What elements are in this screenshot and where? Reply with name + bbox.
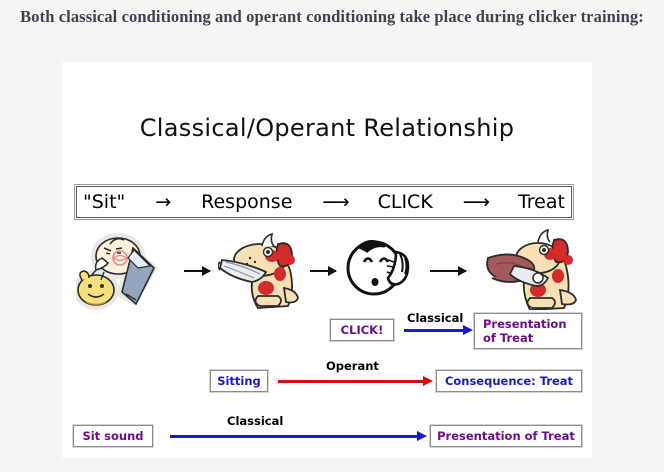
arrow-operant-sitting — [278, 380, 424, 383]
term-box-presentation-of-treat-1[interactable]: Presentation of Treat — [474, 313, 582, 349]
presentation-of-treat-line1: Presentation — [483, 317, 575, 331]
page-caption: Both classical conditioning and operant … — [8, 4, 656, 29]
relationship-label-classical-2: Classical — [227, 414, 283, 428]
slide-title: Classical/Operant Relationship — [62, 114, 592, 142]
diagram-panel: Classical/Operant Relationship "Sit" → R… — [62, 62, 592, 458]
presentation-of-treat-line2: of Treat — [483, 331, 575, 345]
relationship-label-operant: Operant — [326, 359, 379, 373]
illustration-arrow-2 — [310, 270, 336, 272]
sequence-item-cue: "Sit" — [83, 191, 125, 213]
illustration-row — [70, 226, 584, 312]
sequence-item-click: CLICK — [378, 191, 433, 213]
illustration-arrow-3 — [430, 270, 466, 272]
arrow-classical-sit-sound — [170, 435, 418, 438]
term-box-sit-sound[interactable]: Sit sound — [73, 425, 153, 447]
term-box-presentation-of-treat-2[interactable]: Presentation of Treat — [430, 425, 582, 447]
sequence-item-treat: Treat — [518, 191, 565, 213]
sequence-arrow-1: → — [155, 193, 171, 212]
face-listening-hand-to-ear-icon — [342, 232, 416, 309]
sequence-arrow-3: ⟶ — [463, 193, 488, 212]
dog-sitting-with-newspaper-icon — [218, 226, 304, 315]
term-box-consequence-treat[interactable]: Consequence: Treat — [436, 370, 582, 392]
term-box-sitting[interactable]: Sitting — [210, 370, 268, 392]
dog-receiving-bone-treat-icon — [474, 226, 584, 315]
term-box-click[interactable]: CLICK! — [330, 319, 394, 341]
sequence-strip: "Sit" → Response ⟶ CLICK ⟶ Treat — [74, 184, 574, 220]
sequence-arrow-2: ⟶ — [322, 193, 347, 212]
person-shouting-with-clicker-icon — [76, 228, 176, 317]
illustration-arrow-1 — [184, 270, 210, 272]
relationship-label-classical-1: Classical — [407, 311, 463, 325]
arrow-classical-click — [404, 329, 464, 332]
sequence-item-response: Response — [201, 191, 292, 213]
